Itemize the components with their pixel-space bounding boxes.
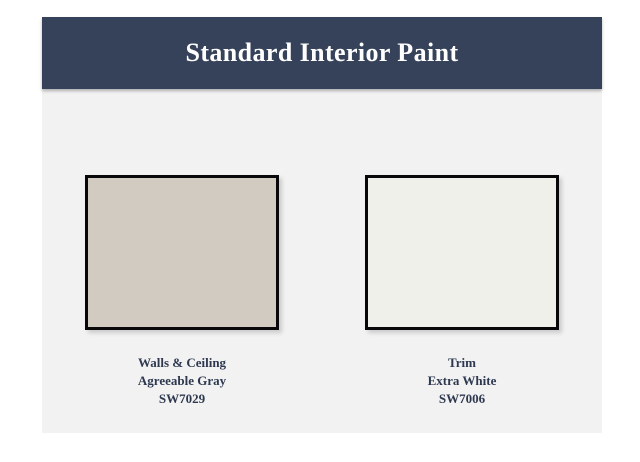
paint-swatch-walls-ceiling: Walls & Ceiling Agreeable Gray SW7029 — [42, 89, 322, 433]
swatch-color-name: Agreeable Gray — [42, 372, 322, 390]
paint-swatch-trim: Trim Extra White SW7006 — [322, 89, 602, 433]
swatch-caption-walls-ceiling: Walls & Ceiling Agreeable Gray SW7029 — [42, 354, 322, 408]
swatch-color-name: Extra White — [322, 372, 602, 390]
color-swatch-agreeable-gray — [85, 175, 279, 330]
swatch-caption-trim: Trim Extra White SW7006 — [322, 354, 602, 408]
swatch-surface-label: Trim — [322, 354, 602, 372]
swatch-color-code: SW7029 — [42, 390, 322, 408]
page-title: Standard Interior Paint — [185, 40, 458, 66]
title-banner: Standard Interior Paint — [42, 17, 602, 89]
paint-swatch-row: Walls & Ceiling Agreeable Gray SW7029 Tr… — [42, 89, 602, 433]
color-swatch-extra-white — [365, 175, 559, 330]
slide-canvas: Standard Interior Paint Walls & Ceiling … — [42, 17, 602, 433]
swatch-color-code: SW7006 — [322, 390, 602, 408]
swatch-surface-label: Walls & Ceiling — [42, 354, 322, 372]
